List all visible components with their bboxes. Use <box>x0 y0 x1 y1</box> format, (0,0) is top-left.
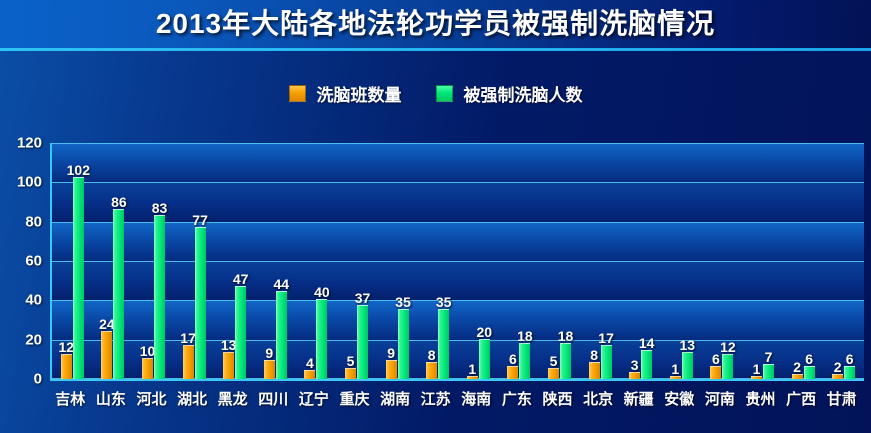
bar-orange[interactable]: 12 <box>61 354 72 379</box>
plot-area: 1210224861083177713479444405379358351206… <box>52 143 864 379</box>
plot-band <box>52 143 864 182</box>
bar-group: 113 <box>670 143 693 379</box>
plot-band <box>52 182 864 221</box>
bar-value-label: 5 <box>347 354 355 368</box>
bar-green[interactable]: 102 <box>73 177 84 379</box>
legend-swatch-green-icon <box>436 85 453 102</box>
bar-orange[interactable]: 5 <box>345 368 356 379</box>
bar-orange[interactable]: 1 <box>670 376 681 379</box>
x-axis-tick-label: 河南 <box>705 388 735 409</box>
gridline <box>52 378 864 379</box>
bar-value-label: 12 <box>720 340 736 354</box>
chart-legend: 洗脑班数量 被强制洗脑人数 <box>0 78 871 108</box>
plot-band <box>52 222 864 261</box>
bar-green[interactable]: 35 <box>438 309 449 379</box>
bar-green[interactable]: 6 <box>844 366 855 379</box>
bar-green[interactable]: 77 <box>195 227 206 379</box>
bar-green[interactable]: 35 <box>398 309 409 379</box>
x-axis-tick-label: 湖北 <box>177 388 207 409</box>
bar-value-label: 4 <box>306 356 314 370</box>
gridline <box>52 222 864 223</box>
bar-value-label: 102 <box>67 163 90 177</box>
x-axis-tick-label: 江苏 <box>421 388 451 409</box>
bar-orange[interactable]: 10 <box>142 358 153 379</box>
bar-value-label: 2 <box>834 360 842 374</box>
bar-value-label: 6 <box>805 352 813 366</box>
bar-value-label: 7 <box>765 350 773 364</box>
chart-root: 2013年大陆各地法轮功学员被强制洗脑情况 洗脑班数量 被强制洗脑人数 0204… <box>0 0 871 433</box>
bar-green[interactable]: 12 <box>722 354 733 379</box>
bar-orange[interactable]: 5 <box>548 368 559 379</box>
bar-value-label: 10 <box>140 344 156 358</box>
x-axis-tick-label: 四川 <box>258 388 288 409</box>
bar-orange[interactable]: 17 <box>183 345 194 379</box>
bar-orange[interactable]: 1 <box>467 376 478 379</box>
bar-group: 120 <box>467 143 490 379</box>
bar-orange[interactable]: 2 <box>792 374 803 379</box>
bar-green[interactable]: 44 <box>276 291 287 379</box>
x-axis-tick-label: 北京 <box>583 388 613 409</box>
bar-group: 835 <box>426 143 449 379</box>
bar-green[interactable]: 7 <box>763 364 774 379</box>
legend-swatch-orange-icon <box>289 85 306 102</box>
bar-orange[interactable]: 6 <box>710 366 721 379</box>
legend-label-0: 洗脑班数量 <box>317 81 402 106</box>
bar-orange[interactable]: 9 <box>386 360 397 379</box>
bar-orange[interactable]: 13 <box>223 352 234 379</box>
bar-group: 314 <box>629 143 652 379</box>
x-axis-tick-label: 河北 <box>136 388 166 409</box>
bar-green[interactable]: 86 <box>113 209 124 379</box>
y-axis-tick-label: 20 <box>25 331 42 348</box>
bar-group: 1347 <box>223 143 246 379</box>
bar-value-label: 1 <box>468 362 476 376</box>
bar-green[interactable]: 40 <box>316 299 327 379</box>
bar-value-label: 35 <box>436 295 452 309</box>
title-band: 2013年大陆各地法轮功学员被强制洗脑情况 <box>0 0 871 48</box>
x-axis-tick-label: 湖南 <box>380 388 410 409</box>
bar-value-label: 1 <box>753 362 761 376</box>
bar-value-label: 35 <box>395 295 411 309</box>
bar-green[interactable]: 6 <box>804 366 815 379</box>
bar-group: 26 <box>832 143 855 379</box>
bar-value-label: 8 <box>590 348 598 362</box>
bar-value-label: 77 <box>192 213 208 227</box>
bar-group: 537 <box>345 143 368 379</box>
plot-frame: 1210224861083177713479444405379358351206… <box>50 143 864 381</box>
bar-group: 1777 <box>183 143 206 379</box>
gridline <box>52 182 864 183</box>
bar-green[interactable]: 83 <box>154 215 165 379</box>
bar-green[interactable]: 18 <box>519 343 530 379</box>
bar-orange[interactable]: 1 <box>751 376 762 379</box>
bar-value-label: 24 <box>99 317 115 331</box>
bar-green[interactable]: 47 <box>235 286 246 379</box>
bar-orange[interactable]: 8 <box>589 362 600 379</box>
bar-value-label: 6 <box>509 352 517 366</box>
bar-value-label: 6 <box>846 352 854 366</box>
gridline <box>52 261 864 262</box>
bar-group: 440 <box>304 143 327 379</box>
x-axis-tick-label: 安徽 <box>664 388 694 409</box>
bar-value-label: 86 <box>111 195 127 209</box>
y-axis-tick-label: 100 <box>17 174 42 191</box>
plot-band <box>52 300 864 339</box>
bar-value-label: 9 <box>387 346 395 360</box>
chart-title: 2013年大陆各地法轮功学员被强制洗脑情况 <box>0 0 871 48</box>
x-axis-tick-label: 辽宁 <box>299 388 329 409</box>
bar-group: 817 <box>589 143 612 379</box>
bar-group: 12102 <box>61 143 84 379</box>
bar-value-label: 1 <box>671 362 679 376</box>
bar-green[interactable]: 14 <box>641 350 652 379</box>
bar-value-label: 37 <box>355 291 371 305</box>
bar-group: 17 <box>751 143 774 379</box>
x-axis-tick-label: 贵州 <box>745 388 775 409</box>
bar-value-label: 17 <box>598 331 614 345</box>
bar-green[interactable]: 18 <box>560 343 571 379</box>
bar-green[interactable]: 20 <box>479 339 490 379</box>
bar-group: 1083 <box>142 143 165 379</box>
bar-green[interactable]: 13 <box>682 352 693 379</box>
y-axis-tick-label: 40 <box>25 292 42 309</box>
bar-group: 944 <box>264 143 287 379</box>
bar-value-label: 13 <box>221 338 237 352</box>
x-axis-tick-label: 甘肃 <box>827 388 857 409</box>
bar-value-label: 18 <box>558 329 574 343</box>
bar-value-label: 40 <box>314 285 330 299</box>
bar-orange[interactable]: 3 <box>629 372 640 379</box>
x-axis-tick-label: 广东 <box>502 388 532 409</box>
bar-orange[interactable]: 8 <box>426 362 437 379</box>
bar-group: 26 <box>792 143 815 379</box>
bar-orange[interactable]: 2 <box>832 374 843 379</box>
bar-orange[interactable]: 4 <box>304 370 315 379</box>
bar-group: 518 <box>548 143 571 379</box>
y-axis-tick-label: 60 <box>25 253 42 270</box>
bar-value-label: 12 <box>59 340 75 354</box>
bar-value-label: 47 <box>233 272 249 286</box>
y-axis-tick-label: 0 <box>34 371 42 388</box>
bar-value-label: 17 <box>180 331 196 345</box>
x-axis-tick-label: 陕西 <box>542 388 572 409</box>
plot-band <box>52 340 864 379</box>
y-axis: 020406080100120 <box>0 0 46 433</box>
bar-value-label: 8 <box>428 348 436 362</box>
bar-group: 2486 <box>101 143 124 379</box>
legend-item-1: 被强制洗脑人数 <box>436 81 583 106</box>
bar-value-label: 20 <box>477 325 493 339</box>
gridline <box>52 300 864 301</box>
x-axis: 吉林山东河北湖北黑龙四川辽宁重庆湖南江苏海南广东陕西北京新疆安徽河南贵州广西甘肃 <box>50 388 862 414</box>
bar-value-label: 13 <box>680 338 696 352</box>
legend-item-0: 洗脑班数量 <box>289 81 402 106</box>
bar-group: 618 <box>507 143 530 379</box>
bar-green[interactable]: 17 <box>601 345 612 379</box>
bar-value-label: 14 <box>639 336 655 350</box>
bar-green[interactable]: 37 <box>357 305 368 379</box>
bar-group: 612 <box>710 143 733 379</box>
bar-value-label: 18 <box>517 329 533 343</box>
y-axis-tick-label: 120 <box>17 135 42 152</box>
gridline <box>52 143 864 144</box>
x-axis-tick-label: 新疆 <box>624 388 654 409</box>
gridline <box>52 340 864 341</box>
bar-orange[interactable]: 6 <box>507 366 518 379</box>
bar-value-label: 2 <box>793 360 801 374</box>
bar-value-label: 6 <box>712 352 720 366</box>
bar-value-label: 9 <box>265 346 273 360</box>
x-axis-tick-label: 海南 <box>461 388 491 409</box>
bar-value-label: 3 <box>631 358 639 372</box>
x-axis-tick-label: 广西 <box>786 388 816 409</box>
bar-group: 935 <box>386 143 409 379</box>
plot-band <box>52 261 864 300</box>
bar-value-label: 5 <box>550 354 558 368</box>
x-axis-tick-label: 吉林 <box>55 388 85 409</box>
legend-label-1: 被强制洗脑人数 <box>464 81 583 106</box>
x-axis-tick-label: 重庆 <box>339 388 369 409</box>
bar-orange[interactable]: 9 <box>264 360 275 379</box>
x-axis-tick-label: 山东 <box>96 388 126 409</box>
bar-value-label: 44 <box>274 277 290 291</box>
y-axis-tick-label: 80 <box>25 213 42 230</box>
bar-value-label: 83 <box>152 201 168 215</box>
bar-orange[interactable]: 24 <box>101 331 112 379</box>
x-axis-tick-label: 黑龙 <box>218 388 248 409</box>
title-divider <box>0 48 871 51</box>
